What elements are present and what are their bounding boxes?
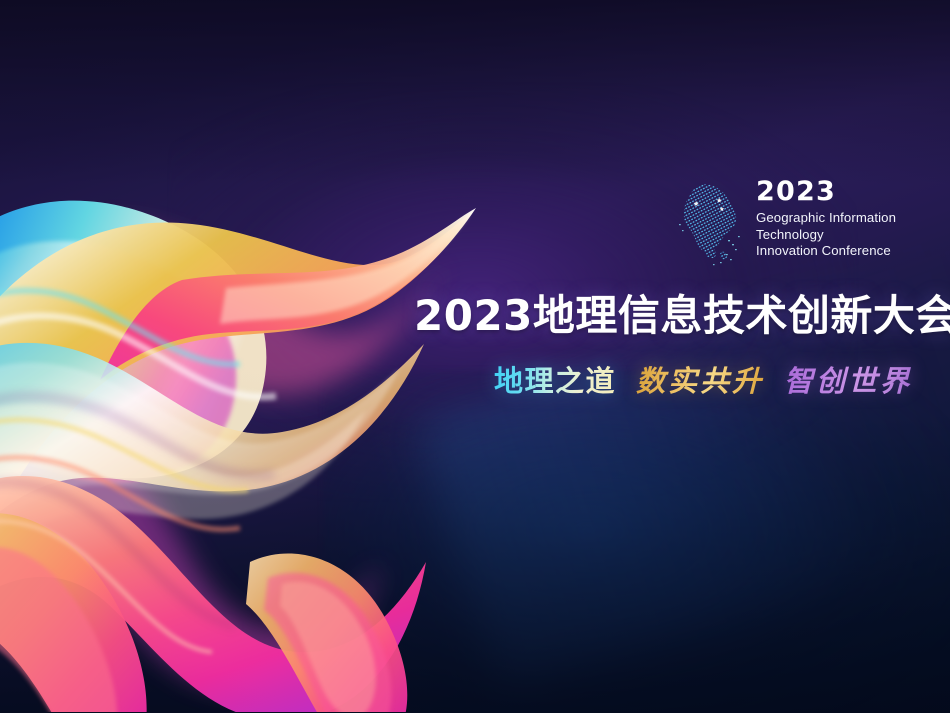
logo-year: 2023 (756, 178, 896, 205)
logo-text-block: 2023 Geographic Information Technology I… (756, 176, 896, 260)
slogan-group-3: 智创世界 (784, 364, 912, 399)
logo-line-1: Geographic Information (756, 210, 896, 227)
logo-line-2: Technology (756, 227, 896, 244)
conference-logo: 2023 Geographic Information Technology I… (676, 176, 896, 270)
logo-line-3: Innovation Conference (756, 243, 896, 260)
page-title: 2023地理信息技术创新大会 (414, 294, 914, 338)
background-top-vignette (0, 0, 950, 185)
slogan: 地理之道 数实共升 智创世界 (494, 364, 912, 399)
conference-poster: 2023 Geographic Information Technology I… (0, 0, 950, 713)
slogan-group-1: 地理之道 (494, 364, 616, 399)
background-bottom-vignette (0, 414, 950, 713)
dotted-world-map-icon (676, 178, 750, 270)
slogan-group-2: 数实共升 (636, 364, 764, 399)
